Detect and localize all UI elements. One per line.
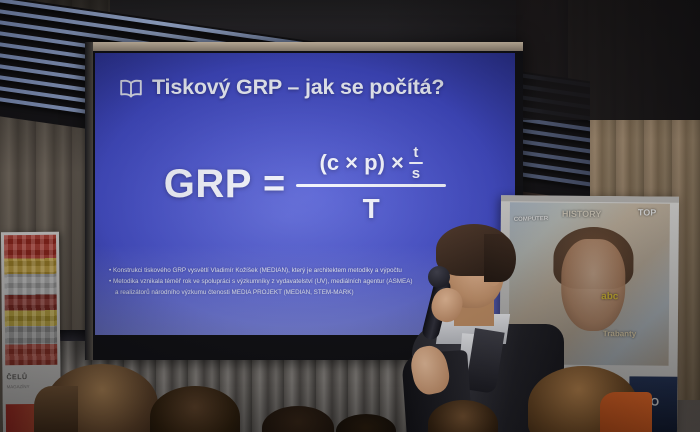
open-book-icon <box>119 78 143 98</box>
formula-lhs: GRP <box>164 162 252 207</box>
formula-inner-denominator: s <box>412 166 420 182</box>
audience-hair-1 <box>34 386 78 432</box>
formula-inner-bar <box>409 162 423 164</box>
presentation-photo: Tiskový GRP – jak se počítá? GRP = (c × … <box>0 0 700 432</box>
screen-top-edge <box>85 42 523 51</box>
speaker-hair-back <box>484 234 516 282</box>
audience-shoulder-6 <box>600 392 652 432</box>
formula-numerator: (c × p) × t s <box>310 145 433 184</box>
formula-equals: = <box>263 163 285 206</box>
formula-fraction: (c × p) × t s T <box>296 145 446 225</box>
screen-left-edge <box>85 42 93 360</box>
formula-denominator: T <box>363 187 380 225</box>
slide-title-text: Tiskový GRP – jak se počítá? <box>152 75 444 100</box>
slide-title: Tiskový GRP – jak se počítá? <box>119 75 444 100</box>
formula-inner-numerator: t <box>413 145 418 161</box>
formula-numerator-text: (c × p) × <box>320 150 404 176</box>
formula-inner-fraction: t s <box>409 145 423 181</box>
grp-formula: GRP = (c × p) × t s T <box>95 145 515 225</box>
